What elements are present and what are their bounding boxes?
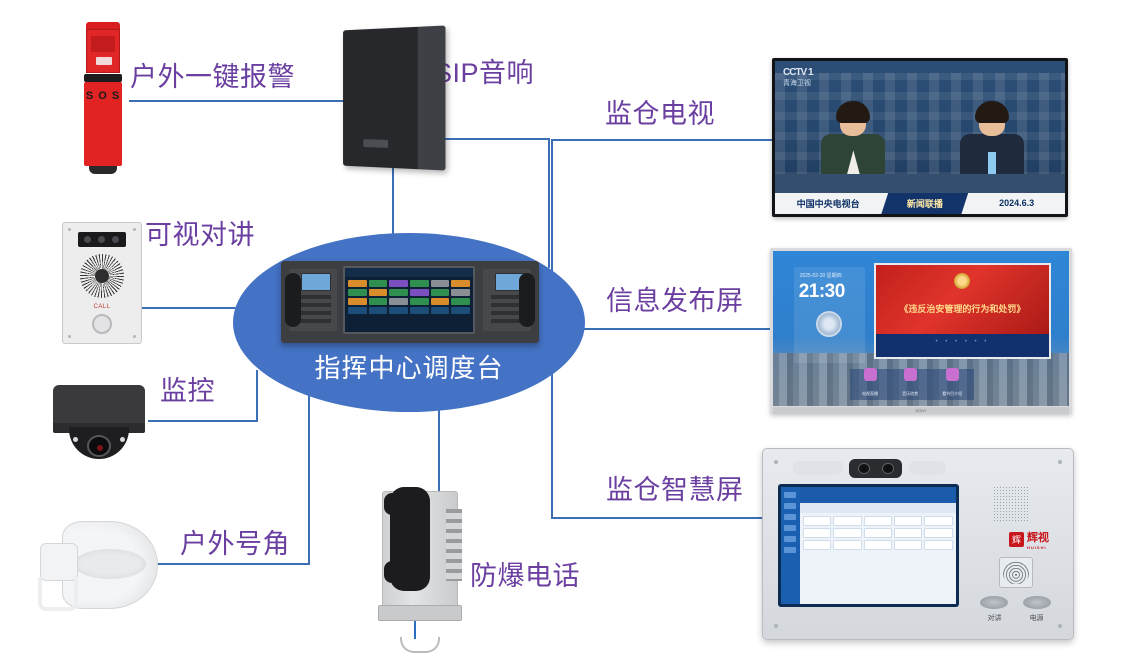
central-hub-node[interactable]: 指挥中心调度台 xyxy=(233,233,585,412)
device-sip-wall-speaker[interactable] xyxy=(340,28,445,168)
device-sos-alarm-pillar[interactable]: S O S xyxy=(80,22,126,174)
telephone-handset xyxy=(390,487,430,591)
intercom-camera-icon xyxy=(78,232,126,247)
tv-lower-third: 中国中央电视台 新闻联播 2024.6.3 xyxy=(775,193,1065,214)
label-surveillance: 监控 xyxy=(160,378,215,405)
news-anchor-female xyxy=(821,106,885,180)
camera-dome xyxy=(69,427,129,459)
device-explosion-proof-telephone[interactable] xyxy=(370,485,470,653)
label-outdoor-horn: 户外号角 xyxy=(180,531,290,558)
info-banner-dots: • • • • • • xyxy=(876,339,1050,345)
power-button[interactable] xyxy=(1023,596,1051,609)
fingerprint-reader-icon[interactable] xyxy=(999,557,1033,588)
device-video-intercom-panel[interactable]: CALL xyxy=(62,222,142,344)
tv-broadcaster: 中国中央电视台 xyxy=(775,197,881,210)
device-dome-camera[interactable] xyxy=(45,383,153,461)
speaker-grille-icon xyxy=(80,254,124,298)
diagram-canvas: 户外一键报警 SIP音响 可视对讲 监控 户外号角 防爆电话 监仓电视 信息发布… xyxy=(0,0,1142,654)
info-tile[interactable]: 看节目介绍 xyxy=(942,368,962,400)
label-smart-screen: 监仓智慧屏 xyxy=(606,477,744,504)
terminal-speaker-grille xyxy=(993,486,1030,521)
tv-channel-logo: CCTV 1 青海卫视 xyxy=(783,67,813,88)
camera-lens-icon xyxy=(87,435,111,457)
info-tile[interactable]: 电视直播 xyxy=(862,368,878,400)
info-banner: 《违反治安管理的行为和处罚》 • • • • • • xyxy=(874,263,1052,359)
info-time: 21:30 xyxy=(799,281,845,303)
police-emblem-icon xyxy=(816,311,842,337)
call-label: CALL xyxy=(62,304,142,310)
label-outdoor-alarm: 户外一键报警 xyxy=(130,64,295,91)
info-tile-bar[interactable]: 电视直播 音乐欣赏 看节目介绍 xyxy=(850,369,974,400)
console-touch-screen xyxy=(343,266,475,334)
label-cell-tv: 监仓电视 xyxy=(605,101,715,128)
wire-horn-h xyxy=(150,563,310,565)
label-info-screen: 信息发布屏 xyxy=(606,288,744,315)
hub-label: 指挥中心调度台 xyxy=(233,348,585,385)
label-sip-speaker: SIP音响 xyxy=(434,60,534,87)
tv-channel-sub: 青海卫视 xyxy=(783,78,813,88)
call-button[interactable] xyxy=(92,314,112,334)
info-tile[interactable]: 音乐欣赏 xyxy=(902,368,918,400)
wire-info-screen-h xyxy=(551,328,783,330)
display-brand: SONY xyxy=(915,408,926,413)
brand-logo: 辉 辉视HUISHI xyxy=(1009,529,1049,550)
wire-cell-tv-h xyxy=(551,139,783,141)
intercom-button-label: 对讲 xyxy=(976,613,1013,623)
sos-text: S O S xyxy=(84,90,122,102)
console-phone-right xyxy=(483,269,531,331)
wire-horn-v xyxy=(308,392,310,565)
wire-camera-h xyxy=(148,420,258,422)
dispatch-console-image xyxy=(281,261,539,343)
device-information-display[interactable]: 2025-02-20 星期四 21:30 《违反治安管理的行为和处罚》 • • … xyxy=(770,248,1072,414)
news-anchor-male xyxy=(960,106,1024,180)
brand-pinyin: HUISHI xyxy=(1027,545,1049,550)
terminal-side-rail[interactable] xyxy=(781,487,800,604)
tv-date: 2024.6.3 xyxy=(968,198,1065,208)
emblem-icon xyxy=(954,273,970,289)
label-video-intercom: 可视对讲 xyxy=(145,222,255,249)
label-explosion-phone: 防爆电话 xyxy=(470,563,580,590)
info-date: 2025-02-20 星期四 xyxy=(800,272,842,279)
power-button-label: 电源 xyxy=(1018,613,1055,623)
info-clock-panel: 2025-02-20 星期四 21:30 xyxy=(794,267,865,363)
device-horn-speaker[interactable] xyxy=(22,515,162,615)
wire-sip-h xyxy=(430,138,550,140)
device-television[interactable]: CCTV 1 青海卫视 中国中央电视台 新闻联播 2024.6.3 xyxy=(772,58,1068,217)
console-phone-left xyxy=(289,269,337,331)
terminal-camera-icon xyxy=(849,459,902,478)
terminal-display[interactable] xyxy=(778,484,959,607)
tv-program: 新闻联播 xyxy=(881,193,968,214)
info-banner-title: 《违反治安管理的行为和处罚》 xyxy=(876,302,1050,315)
device-smart-cell-terminal[interactable]: 辉 辉视HUISHI 对讲 电源 xyxy=(762,448,1074,640)
wire-sip-v xyxy=(548,138,550,268)
wire-smart-screen-h xyxy=(551,517,783,519)
